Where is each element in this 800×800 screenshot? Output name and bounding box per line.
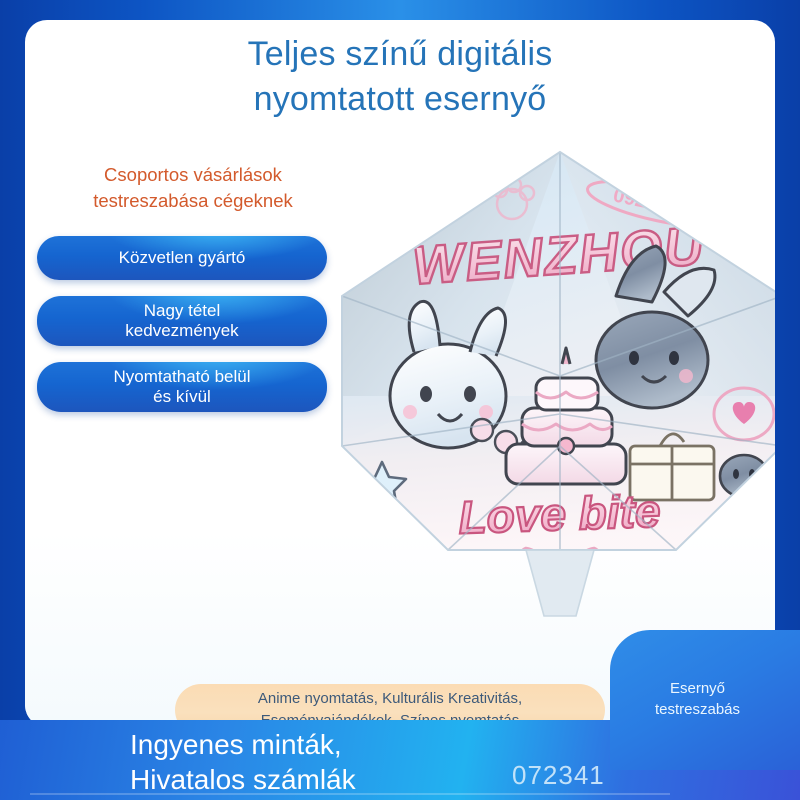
page-title: Teljes színű digitális nyomtatott eserny… (25, 32, 775, 122)
feature-pill-label: Közvetlen gyártó (119, 248, 246, 268)
footer-headline: Ingyenes minták, Hivatalos számlák (130, 728, 356, 797)
star-motifs (352, 462, 406, 574)
page-title-line-2: nyomtatott esernyő (25, 77, 775, 122)
feature-pill-label-line-1: Nagy tétel (144, 301, 221, 320)
feature-pill-label: Nagy tétel kedvezmények (125, 301, 238, 340)
footer-divider (30, 793, 670, 795)
feature-pill-bulk-discount[interactable]: Nagy tétel kedvezmények (37, 296, 327, 346)
product-image-umbrella: WENZHOU 0923 0309 (330, 146, 775, 646)
product-poster: Teljes színű digitális nyomtatott eserny… (0, 0, 800, 800)
feature-pill-label: Nyomtatható belül és kívül (113, 367, 250, 406)
feature-pill-label-line-2: és kívül (153, 387, 211, 406)
feature-pill-direct-manufacturer[interactable]: Közvetlen gyártó (37, 236, 327, 280)
category-banner-line-1: Anime nyomtatás, Kulturális Kreativitás, (258, 688, 522, 710)
subheadline-line-2: testreszabása cégeknek (43, 188, 343, 214)
feature-pill-label-line-2: kedvezmények (125, 321, 238, 340)
page-title-line-1: Teljes színű digitális (25, 32, 775, 77)
corner-promo-line-1: Esernyő (610, 678, 785, 699)
footer-headline-line-1: Ingyenes minták, (130, 728, 356, 763)
subheadline: Csoportos vásárlások testreszabása cégek… (43, 162, 343, 215)
poster-card: Teljes színű digitális nyomtatott eserny… (25, 20, 775, 727)
umbrella-tip (526, 550, 594, 616)
feature-pill-print-inside-outside[interactable]: Nyomtatható belül és kívül (37, 362, 327, 412)
footer-code: 072341 (512, 760, 605, 791)
subheadline-line-1: Csoportos vásárlások (43, 162, 343, 188)
bunny-small-right (720, 455, 768, 497)
corner-promo-label: Esernyő testreszabás (610, 678, 785, 721)
corner-promo-panel[interactable]: Esernyő testreszabás (610, 630, 800, 770)
feature-pill-list: Közvetlen gyártó Nagy tétel kedvezmények… (37, 236, 327, 428)
umbrella-canopy: WENZHOU 0923 0309 (342, 152, 775, 574)
umbrella-illustration: WENZHOU 0923 0309 (330, 146, 775, 636)
corner-promo-line-2: testreszabás (610, 699, 785, 720)
feature-pill-label-line-1: Nyomtatható belül (113, 367, 250, 386)
